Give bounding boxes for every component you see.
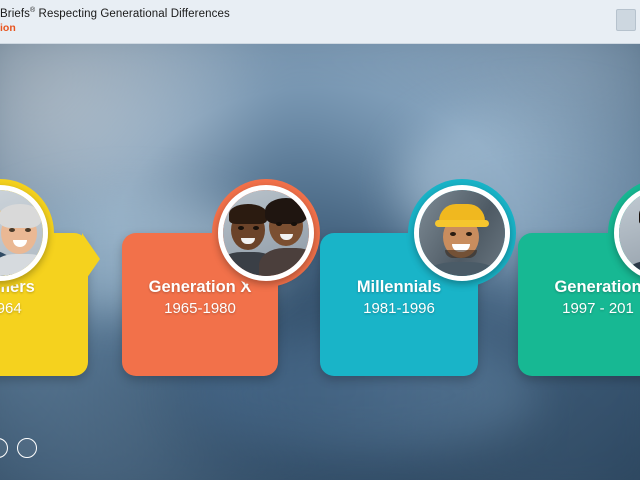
generation-years: 1964: [0, 300, 88, 319]
generation-card-millennials[interactable]: Millennials 1981-1996: [320, 185, 478, 376]
generation-name: Generation: [518, 277, 640, 298]
page-subtitle: ion: [0, 22, 16, 34]
slide-canvas: oomers 1964: [0, 44, 640, 480]
slide-navigation[interactable]: [0, 438, 37, 458]
app-header: Briefs® Respecting Generational Differen…: [0, 0, 640, 44]
generation-card-generation-x[interactable]: Generation X 1965-1980: [122, 185, 278, 376]
generation-years: 1965-1980: [122, 300, 278, 319]
page-title: Briefs® Respecting Generational Differen…: [0, 7, 230, 20]
menu-button[interactable]: [616, 9, 636, 31]
slide-dot-2[interactable]: [17, 438, 37, 458]
generation-card-boomers[interactable]: oomers 1964: [0, 185, 88, 376]
presentation-viewer: Briefs® Respecting Generational Differen…: [0, 0, 640, 480]
generation-years: 1981-1996: [320, 300, 478, 319]
generation-photo-boomers: [0, 185, 48, 281]
slide-dot-1[interactable]: [0, 438, 8, 458]
generation-arrow-icon: [82, 233, 100, 285]
generation-card-generation-z[interactable]: Generation 1997 - 201: [518, 185, 640, 376]
generation-photo-generation-x: [218, 185, 314, 281]
generations-timeline: oomers 1964: [0, 44, 640, 480]
generation-years: 1997 - 201: [518, 300, 640, 319]
generation-label-group: Generation 1997 - 201: [518, 277, 640, 318]
generation-photo-millennials: [414, 185, 510, 281]
